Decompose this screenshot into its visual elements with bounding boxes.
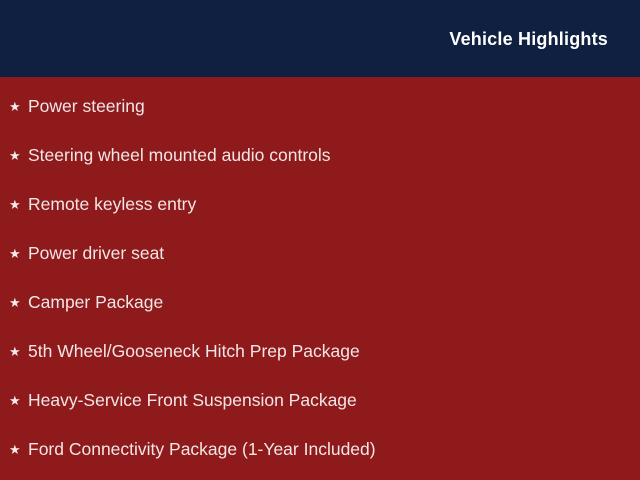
- list-item-label: Steering wheel mounted audio controls: [28, 146, 331, 165]
- list-item-label: Power driver seat: [28, 244, 164, 263]
- list-item: ★ 5th Wheel/Gooseneck Hitch Prep Package: [0, 327, 640, 376]
- list-item: ★ Steering wheel mounted audio controls: [0, 131, 640, 180]
- star-icon: ★: [9, 443, 28, 456]
- list-item: ★ Power driver seat: [0, 229, 640, 278]
- highlights-panel: ★ Power steering ★ Steering wheel mounte…: [0, 77, 640, 480]
- list-item: ★ Camper Package: [0, 278, 640, 327]
- list-item-label: Ford Connectivity Package (1-Year Includ…: [28, 440, 376, 459]
- page-header: Vehicle Highlights: [0, 0, 640, 77]
- list-item: ★ Power steering: [0, 82, 640, 131]
- list-item: ★ Remote keyless entry: [0, 180, 640, 229]
- list-item-label: Heavy-Service Front Suspension Package: [28, 391, 357, 410]
- star-icon: ★: [9, 394, 28, 407]
- list-item-label: Power steering: [28, 97, 145, 116]
- star-icon: ★: [9, 100, 28, 113]
- list-item-label: 5th Wheel/Gooseneck Hitch Prep Package: [28, 342, 360, 361]
- star-icon: ★: [9, 345, 28, 358]
- highlights-list: ★ Power steering ★ Steering wheel mounte…: [0, 82, 640, 474]
- page-title: Vehicle Highlights: [449, 30, 608, 48]
- star-icon: ★: [9, 247, 28, 260]
- star-icon: ★: [9, 198, 28, 211]
- star-icon: ★: [9, 296, 28, 309]
- list-item: ★ Heavy-Service Front Suspension Package: [0, 376, 640, 425]
- list-item-label: Camper Package: [28, 293, 163, 312]
- star-icon: ★: [9, 149, 28, 162]
- list-item-label: Remote keyless entry: [28, 195, 196, 214]
- list-item: ★ Ford Connectivity Package (1-Year Incl…: [0, 425, 640, 474]
- vehicle-highlights-page: Vehicle Highlights ★ Power steering ★ St…: [0, 0, 640, 480]
